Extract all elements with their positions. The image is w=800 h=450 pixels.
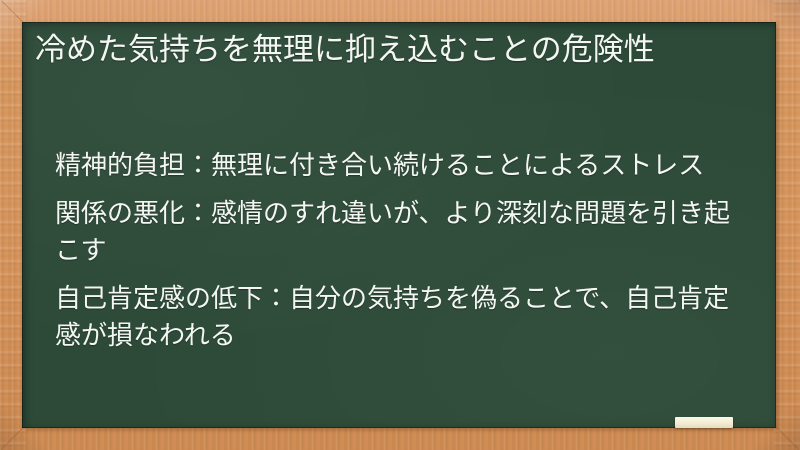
bullet-item-3: 自己肯定感の低下：自分の気持ちを偽ることで、自己肯定感が損なわれる: [55, 281, 755, 355]
bullet-item-2: 関係の悪化：感情のすれ違いが、より深刻な問題を引き起こす: [55, 196, 755, 270]
chalkboard-surface: 冷めた気持ちを無理に抑え込むことの危険性 精神的負担：無理に付き合い続けることに…: [22, 22, 776, 428]
chalk-stick-icon: [675, 417, 733, 428]
bullet-list: 精神的負担：無理に付き合い続けることによるストレス 関係の悪化：感情のすれ違いが…: [55, 148, 755, 355]
frame-right-stile: [774, 0, 800, 450]
bullet-item-1: 精神的負担：無理に付き合い続けることによるストレス: [55, 148, 755, 185]
slide-title: 冷めた気持ちを無理に抑え込むことの危険性: [35, 30, 751, 71]
chalkboard-slide: 冷めた気持ちを無理に抑え込むことの危険性 精神的負担：無理に付き合い続けることに…: [0, 0, 800, 450]
